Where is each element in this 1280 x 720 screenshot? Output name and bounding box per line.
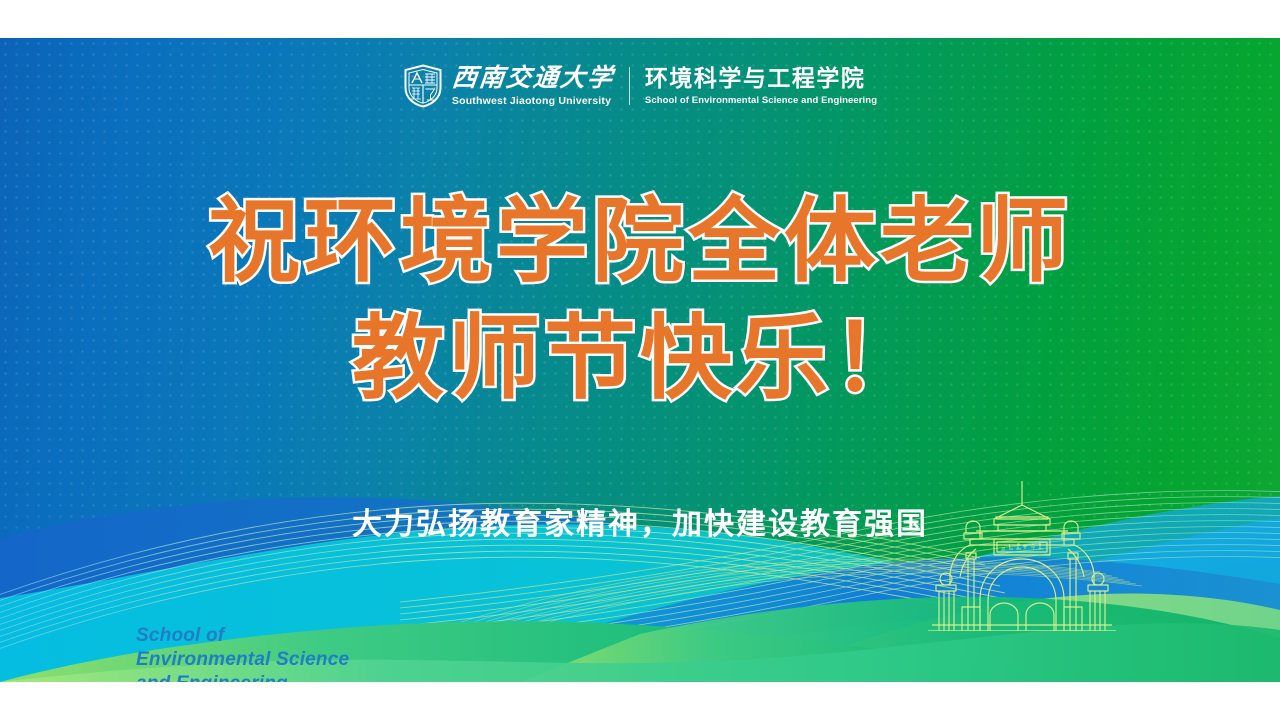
header-logo-row: 西南交通大学 Southwest Jiaotong University 环境科… [0,64,1280,108]
school-name-en: School of Environmental Science and Engi… [645,96,877,106]
school-name-cn: 环境科学与工程学院 [645,67,866,90]
poster-canvas: 西南交通大学 Southwest Jiaotong University 环境科… [0,0,1280,720]
headline-line-2: 教师节快乐！ [0,307,1280,410]
school-wordmark-line-1: School of [136,624,349,648]
university-name-block: 西南交通大学 Southwest Jiaotong University [452,66,614,107]
headline-line-1: 祝环境学院全体老师 [0,190,1280,293]
school-wordmark-line-2: Environmental Science [136,648,349,672]
university-shield-icon [403,64,443,108]
banner-background: 西南交通大学 Southwest Jiaotong University 环境科… [0,38,1280,682]
university-name-en: Southwest Jiaotong University [452,96,611,107]
subtitle-slogan: 大力弘扬教育家精神，加快建设教育强国 [0,499,1280,543]
university-name-cn: 西南交通大学 [451,66,616,91]
logo-divider [629,67,630,105]
school-name-block: 环境科学与工程学院 School of Environmental Scienc… [645,67,877,106]
school-wordmark-line-3: and Engineering [136,672,349,683]
school-wordmark: School of Environmental Science and Engi… [136,624,349,682]
headline: 祝环境学院全体老师 教师节快乐！ [0,190,1280,410]
